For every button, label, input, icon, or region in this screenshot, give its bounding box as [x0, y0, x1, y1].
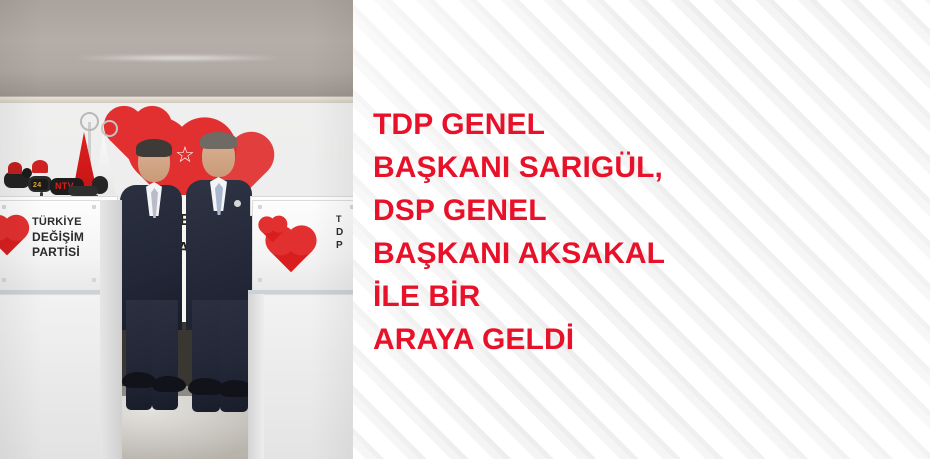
- ceiling: [0, 0, 353, 96]
- podium-right-screw-1: [258, 205, 262, 209]
- flag-finial-icon: [80, 112, 99, 131]
- person-left-leg-1: [126, 300, 152, 410]
- podium-left-screw-2: [92, 205, 96, 209]
- podium-right-line1: T: [336, 215, 342, 225]
- person-right-leg-1: [192, 300, 220, 412]
- podium-left-side-face: [100, 200, 122, 459]
- news-photo: ☆ 24 NTV DEĞ PAR: [0, 0, 353, 459]
- flag-finial-secondary-icon: [101, 120, 118, 137]
- microphone-heart-flag-2: [32, 160, 48, 173]
- podium-right-side-face: [248, 294, 264, 459]
- person-right-lapel-pin: [234, 200, 241, 207]
- news-thumbnail-card: ☆ 24 NTV DEĞ PAR: [0, 0, 930, 459]
- microphone-4: [22, 168, 32, 178]
- crescent-star-icon: ☆: [172, 142, 198, 168]
- podium-right-line3: P: [336, 241, 343, 252]
- podium-left-line1: TÜRKİYE: [32, 217, 82, 229]
- headline-text: TDP GENEL BAŞKANI SARIGÜL, DSP GENEL BAŞ…: [373, 103, 913, 361]
- microphone-label-24: 24: [33, 182, 41, 189]
- ceiling-light-reflection: [70, 55, 285, 61]
- podium-left-line3: PARTİSİ: [32, 246, 80, 259]
- podium-left-screw-1: [2, 205, 6, 209]
- podium-left-screw-3: [2, 278, 6, 282]
- person-left-shoe-2: [152, 376, 186, 392]
- podium-left-screw-4: [92, 278, 96, 282]
- person-left-leg-2: [152, 300, 178, 410]
- microphone-heart-flag: [8, 162, 22, 174]
- podium-left-line2: DEĞİŞİM: [32, 231, 84, 244]
- person-left-shoe-1: [122, 372, 156, 388]
- person-left-hair: [136, 139, 172, 157]
- podium-right-line2: D: [336, 228, 343, 239]
- podium-right-screw-3: [258, 278, 262, 282]
- headline-panel: TDP GENEL BAŞKANI SARIGÜL, DSP GENEL BAŞ…: [353, 0, 930, 459]
- person-right-hair: [200, 132, 237, 149]
